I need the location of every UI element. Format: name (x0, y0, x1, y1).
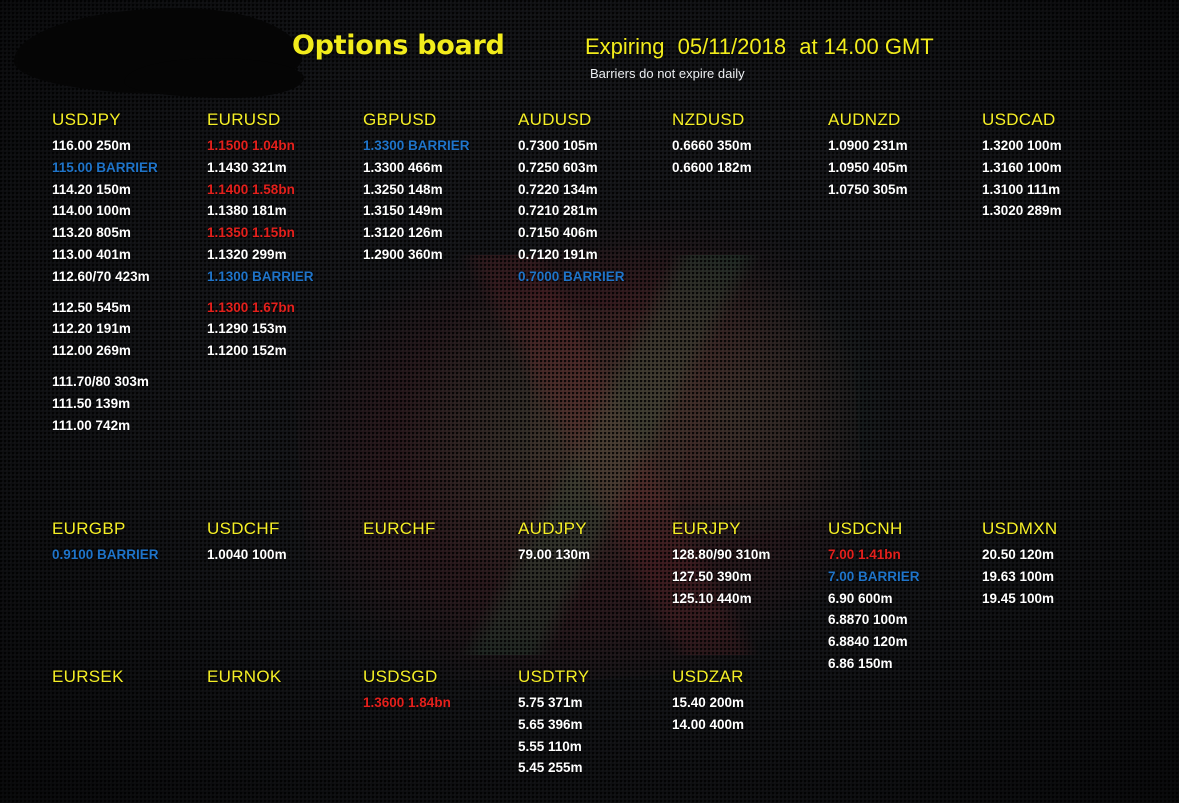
strike-row: 128.80/90 310m (672, 544, 770, 566)
pair-column-eurgbp: EURGBP0.9100 BARRIER (52, 519, 159, 566)
strike-row: 112.00 269m (52, 340, 158, 362)
strike-row: 7.00 BARRIER (828, 566, 920, 588)
strike-row: 0.7000 BARRIER (518, 266, 625, 288)
strike-row: 6.8870 100m (828, 609, 920, 631)
pair-column-eurnok: EURNOK (207, 667, 282, 692)
strike-row: 5.45 255m (518, 757, 589, 779)
strike-row: 1.3300 BARRIER (363, 135, 470, 157)
strike-row: 19.63 100m (982, 566, 1057, 588)
strike-row: 1.2900 360m (363, 244, 470, 266)
strike-row: 6.86 150m (828, 653, 920, 675)
pair-heading: USDSGD (363, 667, 451, 692)
strike-row: 0.6660 350m (672, 135, 752, 157)
pair-heading: EURGBP (52, 519, 159, 544)
strike-row: 1.3300 466m (363, 157, 470, 179)
strike-row: 112.20 191m (52, 318, 158, 340)
strike-row: 14.00 400m (672, 714, 744, 736)
strike-row: 1.0950 405m (828, 157, 908, 179)
strike-row: 114.00 100m (52, 200, 158, 222)
pair-column-usdzar: USDZAR15.40 200m14.00 400m (672, 667, 744, 736)
pair-column-usdcad: USDCAD1.3200 100m1.3160 100m1.3100 111m1… (982, 110, 1062, 222)
pair-column-usdchf: USDCHF1.0040 100m (207, 519, 287, 566)
strike-row: 1.3600 1.84bn (363, 692, 451, 714)
strike-row: 7.00 1.41bn (828, 544, 920, 566)
strike-row: 127.50 390m (672, 566, 770, 588)
pair-heading: EURCHF (363, 519, 436, 544)
pair-heading: EURNOK (207, 667, 282, 692)
strike-row: 1.3100 111m (982, 179, 1062, 201)
pair-heading: EURUSD (207, 110, 314, 135)
strike-row: 0.6600 182m (672, 157, 752, 179)
strike-row: 1.1320 299m (207, 244, 314, 266)
strike-row: 1.1500 1.04bn (207, 135, 314, 157)
strike-row: 0.7220 134m (518, 179, 625, 201)
strike-row: 111.00 742m (52, 415, 158, 437)
strike-row: 0.9100 BARRIER (52, 544, 159, 566)
strike-row: 1.1300 1.67bn (207, 297, 314, 319)
strike-row: 1.1200 152m (207, 340, 314, 362)
strike-row: 5.75 371m (518, 692, 589, 714)
pair-heading: USDCHF (207, 519, 287, 544)
strike-row: 112.50 545m (52, 297, 158, 319)
strike-row: 1.1290 153m (207, 318, 314, 340)
pair-column-eurchf: EURCHF (363, 519, 436, 544)
barrier-note: Barriers do not expire daily (590, 66, 745, 81)
strike-row: 0.7210 281m (518, 200, 625, 222)
pair-column-eurjpy: EURJPY128.80/90 310m127.50 390m125.10 44… (672, 519, 770, 609)
strike-row: 1.1350 1.15bn (207, 222, 314, 244)
pair-column-usdjpy: USDJPY116.00 250m115.00 BARRIER114.20 15… (52, 110, 158, 436)
pair-column-audjpy: AUDJPY79.00 130m (518, 519, 590, 566)
expiry-line: Expiring 05/11/2018 at 14.00 GMT (585, 34, 934, 60)
strike-row: 113.20 805m (52, 222, 158, 244)
pair-heading: USDCAD (982, 110, 1062, 135)
strike-row: 79.00 130m (518, 544, 590, 566)
strike-row: 6.8840 120m (828, 631, 920, 653)
pair-heading: GBPUSD (363, 110, 470, 135)
expiry-date: 05/11/2018 (678, 34, 786, 59)
strike-row: 111.50 139m (52, 393, 158, 415)
strike-row: 1.3120 126m (363, 222, 470, 244)
pair-column-eursek: EURSEK (52, 667, 124, 692)
pair-heading: NZDUSD (672, 110, 752, 135)
pair-heading: EURJPY (672, 519, 770, 544)
pair-column-eurusd: EURUSD1.1500 1.04bn1.1430 321m1.1400 1.5… (207, 110, 314, 362)
strike-row: 1.0750 305m (828, 179, 908, 201)
pair-heading: USDJPY (52, 110, 158, 135)
pair-column-nzdusd: NZDUSD0.6660 350m0.6600 182m (672, 110, 752, 179)
strike-row: 1.3160 100m (982, 157, 1062, 179)
strike-row: 112.60/70 423m (52, 266, 158, 288)
strike-row: 1.3020 289m (982, 200, 1062, 222)
pair-column-audusd: AUDUSD0.7300 105m0.7250 603m0.7220 134m0… (518, 110, 625, 288)
strike-row: 115.00 BARRIER (52, 157, 158, 179)
pair-column-usdcnh: USDCNH7.00 1.41bn7.00 BARRIER6.90 600m6.… (828, 519, 920, 675)
strike-row: 1.3200 100m (982, 135, 1062, 157)
pair-heading: AUDJPY (518, 519, 590, 544)
pair-heading: EURSEK (52, 667, 124, 692)
strike-row: 1.0040 100m (207, 544, 287, 566)
pair-column-audnzd: AUDNZD1.0900 231m1.0950 405m1.0750 305m (828, 110, 908, 200)
pair-heading: USDZAR (672, 667, 744, 692)
strike-row: 1.3150 149m (363, 200, 470, 222)
strike-row: 111.70/80 303m (52, 371, 158, 393)
pair-column-gbpusd: GBPUSD1.3300 BARRIER1.3300 466m1.3250 14… (363, 110, 470, 266)
expiring-label: Expiring (585, 34, 664, 59)
strike-row: 0.7120 191m (518, 244, 625, 266)
strike-row: 113.00 401m (52, 244, 158, 266)
strike-row: 114.20 150m (52, 179, 158, 201)
pair-heading: USDTRY (518, 667, 589, 692)
strike-row: 5.65 396m (518, 714, 589, 736)
strike-row: 15.40 200m (672, 692, 744, 714)
strike-row: 0.7150 406m (518, 222, 625, 244)
strike-row: 5.55 110m (518, 736, 589, 758)
strike-row: 1.1400 1.58bn (207, 179, 314, 201)
page-title: Options board (292, 30, 505, 61)
strike-row: 1.0900 231m (828, 135, 908, 157)
pair-heading: USDMXN (982, 519, 1057, 544)
pair-heading: AUDUSD (518, 110, 625, 135)
strike-row: 1.1380 181m (207, 200, 314, 222)
strike-row: 1.1300 BARRIER (207, 266, 314, 288)
strike-row: 1.3250 148m (363, 179, 470, 201)
strike-row: 116.00 250m (52, 135, 158, 157)
strike-row: 6.90 600m (828, 588, 920, 610)
pair-column-usdsgd: USDSGD1.3600 1.84bn (363, 667, 451, 714)
pair-heading: USDCNH (828, 519, 920, 544)
strike-row: 19.45 100m (982, 588, 1057, 610)
strike-row: 0.7250 603m (518, 157, 625, 179)
expiry-time-label: at 14.00 GMT (799, 34, 934, 59)
strike-row: 0.7300 105m (518, 135, 625, 157)
strike-row: 125.10 440m (672, 588, 770, 610)
strike-row: 20.50 120m (982, 544, 1057, 566)
redacted-logo-blob (14, 8, 302, 94)
pair-heading: AUDNZD (828, 110, 908, 135)
pair-column-usdmxn: USDMXN20.50 120m19.63 100m19.45 100m (982, 519, 1057, 609)
pair-column-usdtry: USDTRY5.75 371m5.65 396m5.55 110m5.45 25… (518, 667, 589, 779)
strike-row: 1.1430 321m (207, 157, 314, 179)
